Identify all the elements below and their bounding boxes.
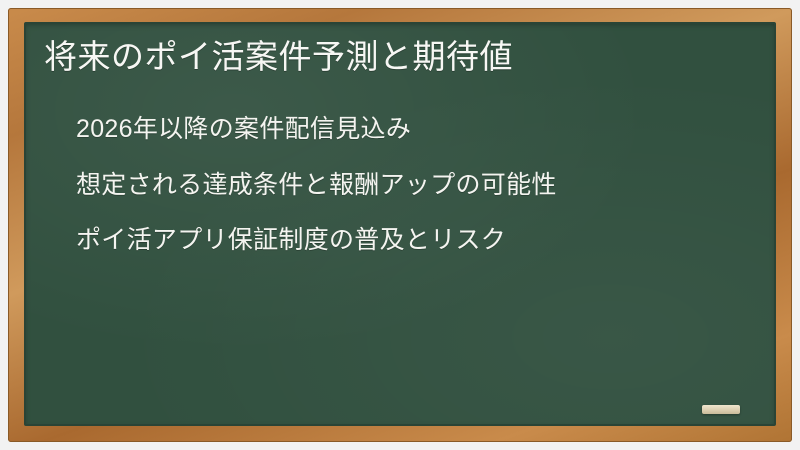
slide-canvas: 将来のポイ活案件予測と期待値 2026年以降の案件配信見込み 想定される達成条件… xyxy=(0,0,800,450)
blackboard-surface: 将来のポイ活案件予測と期待値 2026年以降の案件配信見込み 想定される達成条件… xyxy=(24,22,776,426)
chalk-icon xyxy=(702,405,740,414)
blackboard-frame: 将来のポイ活案件予測と期待値 2026年以降の案件配信見込み 想定される達成条件… xyxy=(8,8,792,442)
slide-bullet-item: 2026年以降の案件配信見込み xyxy=(76,116,752,144)
slide-bullet-list: 2026年以降の案件配信見込み 想定される達成条件と報酬アップの可能性 ポイ活ア… xyxy=(76,116,752,283)
slide-title: 将来のポイ活案件予測と期待値 xyxy=(44,38,752,77)
slide-bullet-item: 想定される達成条件と報酬アップの可能性 xyxy=(76,172,752,200)
slide-bullet-item: ポイ活アプリ保証制度の普及とリスク xyxy=(76,227,752,255)
